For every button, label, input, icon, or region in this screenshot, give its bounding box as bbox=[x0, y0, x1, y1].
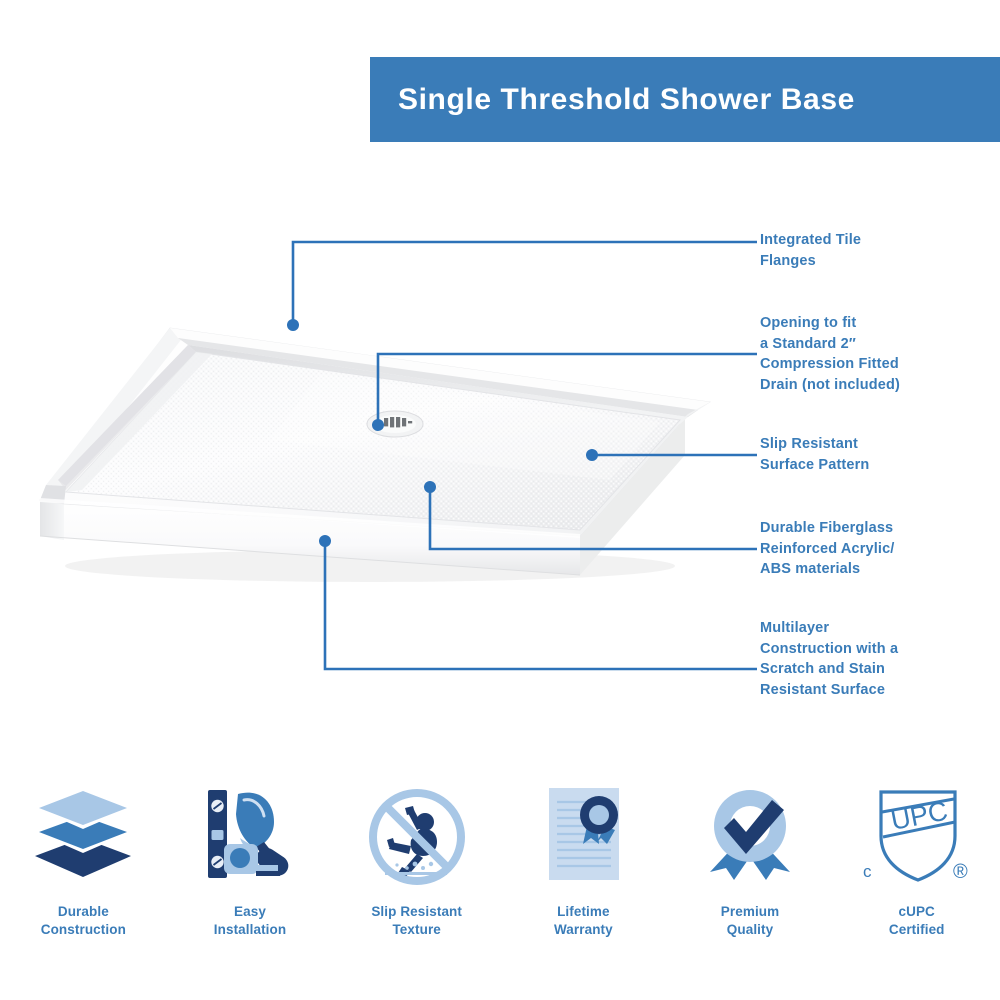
callout-label-durable-materials: Durable Fiberglass Reinforced Acrylic/ A… bbox=[760, 518, 894, 580]
registered-mark: ® bbox=[953, 861, 968, 883]
feature-durable-construction: Durable Construction bbox=[0, 775, 167, 965]
feature-label: Easy Installation bbox=[214, 903, 286, 939]
callout-line: Scratch and Stain bbox=[760, 659, 898, 680]
feature-cupc-certified: UPC c ® cUPC Certified bbox=[833, 775, 1000, 965]
feature-premium-quality: Premium Quality bbox=[667, 775, 834, 965]
callout-line: Integrated Tile bbox=[760, 230, 861, 251]
callout-line: Reinforced Acrylic/ bbox=[760, 539, 894, 560]
feature-label: Durable Construction bbox=[41, 903, 126, 939]
feature-slip-resistant-texture: Slip Resistant Texture bbox=[333, 775, 500, 965]
callout-line: Flanges bbox=[760, 251, 861, 272]
stacked-layers-icon bbox=[27, 775, 139, 893]
page-title: Single Threshold Shower Base bbox=[370, 83, 855, 117]
feature-label: Premium Quality bbox=[721, 903, 779, 939]
callout-line: Construction with a bbox=[760, 639, 898, 660]
feature-label: cUPC Certified bbox=[889, 903, 945, 939]
callout-line: Opening to fit bbox=[760, 313, 900, 334]
callout-line: ABS materials bbox=[760, 559, 894, 580]
feature-label: Slip Resistant Texture bbox=[371, 903, 462, 939]
level-trowel-tape-icon bbox=[194, 775, 306, 893]
feature-label: Lifetime Warranty bbox=[554, 903, 613, 939]
callout-label-integrated-tile-flanges: Integrated Tile Flanges bbox=[760, 230, 861, 271]
callout-line: Surface Pattern bbox=[760, 455, 869, 476]
callout-line: Multilayer bbox=[760, 618, 898, 639]
callout-line: a Standard 2″ bbox=[760, 334, 900, 355]
callout-label-multilayer-construction: Multilayer Construction with a Scratch a… bbox=[760, 618, 898, 700]
callout-label-slip-resistant-surface: Slip Resistant Surface Pattern bbox=[760, 434, 869, 475]
callout-line: Drain (not included) bbox=[760, 375, 900, 396]
page-title-bar: Single Threshold Shower Base bbox=[370, 57, 1000, 142]
callout-line: Resistant Surface bbox=[760, 680, 898, 701]
callout-line: Slip Resistant bbox=[760, 434, 869, 455]
callout-line: Durable Fiberglass bbox=[760, 518, 894, 539]
drain-opening-icon bbox=[367, 411, 423, 437]
certificate-seal-icon bbox=[527, 775, 639, 893]
feature-lifetime-warranty: Lifetime Warranty bbox=[500, 775, 667, 965]
cupc-shield-icon: UPC c ® bbox=[861, 775, 973, 893]
shield-main-text: UPC bbox=[888, 796, 950, 836]
shield-prefix: c bbox=[863, 862, 872, 881]
shower-base-illustration bbox=[20, 290, 740, 590]
product-image bbox=[20, 290, 740, 590]
check-rosette-icon bbox=[694, 775, 806, 893]
callout-label-drain-opening: Opening to fit a Standard 2″ Compression… bbox=[760, 313, 900, 395]
callout-line: Compression Fitted bbox=[760, 354, 900, 375]
feature-easy-installation: Easy Installation bbox=[167, 775, 334, 965]
no-slip-icon bbox=[361, 775, 473, 893]
feature-badges-row: Durable Construction bbox=[0, 775, 1000, 965]
